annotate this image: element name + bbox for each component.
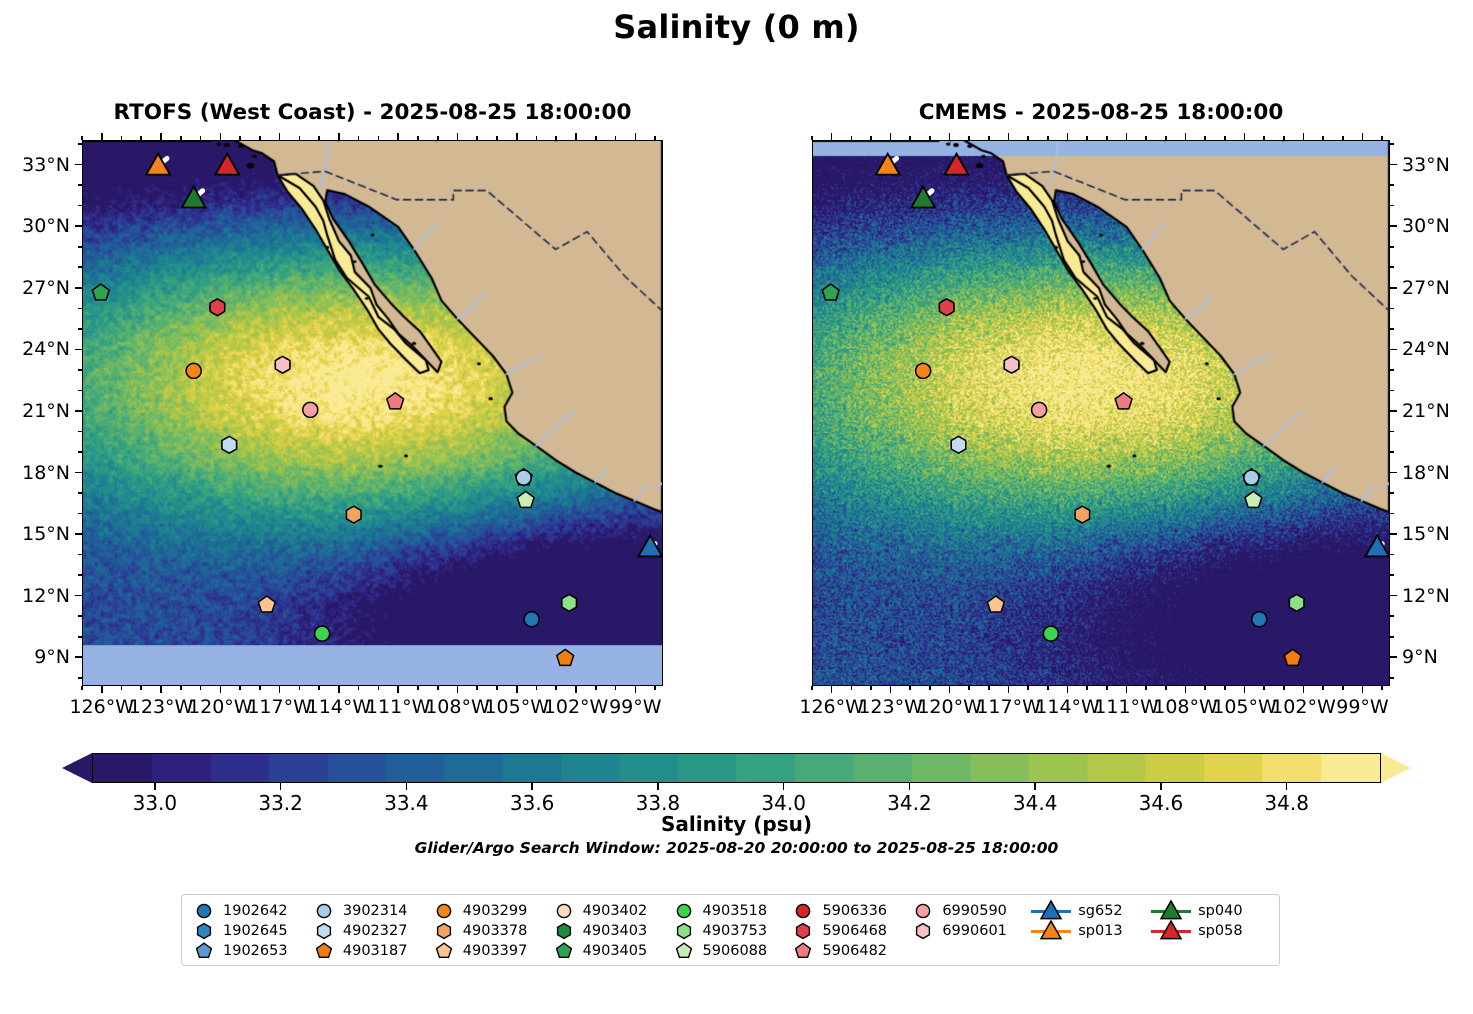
ytick-cmems-0: [1390, 164, 1397, 166]
ytick-minor-rtofs-11: [78, 615, 82, 617]
xtick-minor-cmems--112: [1106, 686, 1108, 690]
legend-item-sg652[interactable]: sg652: [1031, 901, 1151, 921]
legend-item-6990601[interactable]: 6990601: [911, 921, 1031, 941]
xtick-top-minor-cmems--125: [851, 136, 853, 140]
ytick-minor-cmems-17: [1390, 492, 1394, 494]
xtick-minor-cmems--122: [909, 686, 911, 690]
legend-track-swatch-sp058: [1151, 921, 1191, 941]
xtick-minor-rtofs--116: [299, 686, 301, 690]
xtick-label-rtofs-4: 114°W: [307, 696, 372, 718]
ytick-minor-cmems-10: [1390, 636, 1394, 638]
ytick-label-cmems-2: 27°N: [1402, 277, 1450, 299]
legend-marker-hexagon-icon-1902645: [192, 921, 216, 941]
legend-label-5906482: 5906482: [822, 944, 887, 959]
ytick-minor-cmems-32: [1390, 184, 1394, 186]
ytick-minor-rtofs-13: [78, 574, 82, 576]
xtick-top-cmems-2: [949, 133, 951, 140]
legend-marker-circle-icon-4903402: [552, 901, 576, 921]
legend-item-4903753[interactable]: 4903753: [672, 921, 792, 941]
legend-marker-circle-icon-4903299: [432, 901, 456, 921]
platform-legend[interactable]: 1902642190264519026533902314490232749031…: [181, 894, 1280, 966]
xtick-top-minor-rtofs--107: [476, 136, 478, 140]
legend-item-1902642[interactable]: 1902642: [192, 901, 312, 921]
legend-marker-hexagon-icon-4902327: [312, 921, 336, 941]
map-panel-cmems[interactable]: [812, 140, 1390, 686]
ytick-minor-rtofs-10: [78, 636, 82, 638]
ytick-minor-cmems-13: [1390, 574, 1394, 576]
xtick-top-rtofs-0: [101, 133, 103, 140]
xtick-label-cmems-1: 123°W: [858, 696, 923, 718]
legend-marker-hexagon-icon-4903753: [672, 921, 696, 941]
xtick-top-minor-cmems--100: [1342, 136, 1344, 140]
legend-triangle-icon-sg652: [1040, 901, 1062, 921]
platform-marker-1902642[interactable]: [524, 612, 539, 627]
xtick-label-rtofs-7: 105°W: [484, 696, 549, 718]
platform-marker-5906468[interactable]: [210, 299, 225, 316]
ytick-minor-cmems-11: [1390, 615, 1394, 617]
colorbar-tick-3: [531, 783, 532, 790]
ytick-minor-cmems-8: [1390, 677, 1394, 679]
ytick-rtofs-1: [75, 225, 82, 227]
xtick-top-minor-cmems--115: [1047, 136, 1049, 140]
platform-marker-4903378[interactable]: [1075, 506, 1090, 523]
ytick-rtofs-5: [75, 472, 82, 474]
xtick-minor-rtofs--109: [437, 686, 439, 690]
ytick-label-rtofs-5: 18°N: [0, 462, 70, 484]
legend-item-sp058[interactable]: sp058: [1151, 921, 1271, 941]
platform-marker-6990601[interactable]: [275, 356, 290, 373]
xtick-minor-rtofs--100: [615, 686, 617, 690]
xtick-top-cmems-4: [1067, 133, 1069, 140]
legend-label-5906336: 5906336: [822, 904, 887, 919]
xtick-top-minor-rtofs--122: [180, 136, 182, 140]
ytick-minor-rtofs-25: [78, 328, 82, 330]
ytick-minor-cmems-16: [1390, 513, 1394, 515]
xtick-minor-cmems--104: [1263, 686, 1265, 690]
legend-item-4903405[interactable]: 4903405: [552, 941, 672, 961]
xtick-rtofs-1: [160, 686, 162, 693]
legend-item-5906482[interactable]: 5906482: [791, 941, 911, 961]
ytick-minor-cmems-19: [1390, 451, 1394, 453]
xtick-minor-rtofs--122: [180, 686, 182, 690]
xtick-top-minor-rtofs--98: [654, 136, 656, 140]
xtick-minor-rtofs--115: [318, 686, 320, 690]
xtick-top-minor-rtofs--106: [496, 136, 498, 140]
ytick-minor-rtofs-14: [78, 554, 82, 556]
xtick-minor-rtofs--107: [476, 686, 478, 690]
xtick-minor-rtofs--104: [536, 686, 538, 690]
platform-marker-4902327[interactable]: [222, 436, 237, 453]
legend-triangle-icon-sp058: [1160, 921, 1182, 941]
ytick-label-rtofs-2: 27°N: [0, 277, 70, 299]
ytick-minor-rtofs-16: [78, 513, 82, 515]
legend-label-4903299: 4903299: [463, 904, 528, 919]
platform-marker-sg652[interactable]: [1365, 536, 1389, 557]
xtick-top-minor-cmems--113: [1086, 136, 1088, 140]
marker-overlay-cmems: [813, 141, 1390, 686]
xtick-minor-rtofs--127: [81, 686, 83, 690]
colorbar-axis-label: Salinity (psu): [0, 812, 1473, 836]
legend-item-4903518[interactable]: 4903518: [672, 901, 792, 921]
legend-marker-hexagon-icon-6990601: [911, 921, 935, 941]
xtick-top-rtofs-7: [516, 133, 518, 140]
xtick-label-cmems-5: 111°W: [1094, 696, 1159, 718]
xtick-rtofs-6: [457, 686, 459, 693]
platform-marker-3902314[interactable]: [516, 470, 531, 485]
xtick-minor-cmems--116: [1027, 686, 1029, 690]
xtick-label-cmems-3: 117°W: [976, 696, 1041, 718]
colorbar-gradient: [92, 753, 1381, 783]
legend-item-sp040[interactable]: sp040: [1151, 901, 1271, 921]
ytick-minor-cmems-22: [1390, 390, 1394, 392]
legend-label-sp013: sp013: [1078, 924, 1122, 939]
ytick-cmems-4: [1390, 410, 1397, 412]
xtick-minor-cmems--101: [1322, 686, 1324, 690]
ytick-minor-rtofs-34: [78, 143, 82, 145]
legend-item-5906088[interactable]: 5906088: [672, 941, 792, 961]
legend-item-4903378[interactable]: 4903378: [432, 921, 552, 941]
xtick-cmems-8: [1303, 686, 1305, 693]
xtick-top-minor-rtofs--103: [555, 136, 557, 140]
figure-suptitle: Salinity (0 m): [0, 8, 1473, 46]
xtick-minor-cmems--107: [1204, 686, 1206, 690]
legend-marker-pentagon-icon-5906482: [791, 941, 815, 961]
platform-marker-4903397[interactable]: [258, 596, 275, 612]
ytick-label-cmems-1: 30°N: [1402, 215, 1450, 237]
xtick-rtofs-3: [279, 686, 281, 693]
xtick-top-cmems-8: [1303, 133, 1305, 140]
ytick-label-rtofs-0: 33°N: [0, 154, 70, 176]
legend-label-sp040: sp040: [1198, 904, 1242, 919]
xtick-top-minor-cmems--103: [1283, 136, 1285, 140]
ytick-minor-cmems-29: [1390, 246, 1394, 248]
platform-marker-4903753[interactable]: [562, 594, 577, 611]
ytick-cmems-8: [1390, 656, 1397, 658]
legend-label-4903405: 4903405: [583, 944, 648, 959]
ytick-label-cmems-6: 15°N: [1402, 523, 1450, 545]
colorbar-tick-9: [1286, 783, 1287, 790]
platform-marker-4903378[interactable]: [346, 506, 361, 523]
xtick-top-minor-cmems--118: [988, 136, 990, 140]
ytick-label-rtofs-3: 24°N: [0, 338, 70, 360]
legend-item-4903397[interactable]: 4903397: [432, 941, 552, 961]
colorbar-tick-2: [406, 783, 407, 790]
xtick-label-rtofs-8: 102°W: [544, 696, 609, 718]
ytick-minor-rtofs-32: [78, 184, 82, 186]
xtick-minor-rtofs--118: [259, 686, 261, 690]
ytick-minor-cmems-31: [1390, 205, 1394, 207]
platform-marker-4903397[interactable]: [987, 596, 1004, 612]
xtick-top-cmems-6: [1185, 133, 1187, 140]
xtick-minor-cmems--100: [1342, 686, 1344, 690]
xtick-minor-rtofs--106: [496, 686, 498, 690]
ytick-label-rtofs-6: 15°N: [0, 523, 70, 545]
xtick-label-rtofs-0: 126°W: [69, 696, 134, 718]
legend-label-4903518: 4903518: [703, 904, 768, 919]
xtick-top-cmems-1: [890, 133, 892, 140]
xtick-minor-rtofs--121: [200, 686, 202, 690]
xtick-top-minor-rtofs--104: [536, 136, 538, 140]
platform-marker-sp058[interactable]: [945, 154, 969, 175]
xtick-top-minor-rtofs--124: [140, 136, 142, 140]
xtick-minor-rtofs--103: [555, 686, 557, 690]
legend-item-5906468[interactable]: 5906468: [791, 921, 911, 941]
legend-item-4903403[interactable]: 4903403: [552, 921, 672, 941]
ytick-minor-rtofs-31: [78, 205, 82, 207]
colorbar-extend-low: [62, 753, 92, 783]
xtick-top-minor-rtofs--127: [81, 136, 83, 140]
xtick-top-cmems-5: [1126, 133, 1128, 140]
xtick-cmems-7: [1244, 686, 1246, 693]
panel-title-cmems: CMEMS - 2025-08-25 18:00:00: [812, 100, 1390, 125]
legend-track-swatch-sp040: [1151, 901, 1191, 921]
legend-triangle-icon-sp040: [1160, 901, 1182, 921]
platform-marker-sg652[interactable]: [638, 536, 662, 557]
ytick-label-cmems-7: 12°N: [1402, 585, 1450, 607]
xtick-top-cmems-0: [831, 133, 833, 140]
platform-marker-sp058[interactable]: [215, 154, 239, 175]
ytick-label-cmems-5: 18°N: [1402, 462, 1450, 484]
legend-marker-hexagon-icon-4903378: [432, 921, 456, 941]
xtick-minor-cmems--127: [811, 686, 813, 690]
legend-track-swatch-sp013: [1031, 921, 1071, 941]
ytick-minor-cmems-20: [1390, 431, 1394, 433]
ytick-label-cmems-8: 9°N: [1402, 646, 1438, 668]
map-panel-rtofs[interactable]: [82, 140, 663, 686]
xtick-label-cmems-0: 126°W: [799, 696, 864, 718]
ytick-label-rtofs-1: 30°N: [0, 215, 70, 237]
xtick-minor-cmems--113: [1086, 686, 1088, 690]
legend-item-5906336[interactable]: 5906336: [791, 901, 911, 921]
xtick-top-minor-cmems--101: [1322, 136, 1324, 140]
legend-label-4902327: 4902327: [343, 924, 408, 939]
ytick-cmems-3: [1390, 349, 1397, 351]
xtick-rtofs-5: [397, 686, 399, 693]
colorbar-tick-4: [657, 783, 658, 790]
legend-item-4903187[interactable]: 4903187: [312, 941, 432, 961]
platform-marker-4903187[interactable]: [557, 649, 574, 665]
platform-marker-5906088[interactable]: [1245, 491, 1262, 507]
xtick-rtofs-0: [101, 686, 103, 693]
ytick-minor-rtofs-8: [78, 677, 82, 679]
ytick-cmems-7: [1390, 595, 1397, 597]
legend-item-4902327[interactable]: 4902327: [312, 921, 432, 941]
legend-marker-pentagon-icon-4903397: [432, 941, 456, 961]
xtick-top-cmems-9: [1362, 133, 1364, 140]
platform-marker-4903405[interactable]: [822, 284, 839, 300]
xtick-cmems-9: [1362, 686, 1364, 693]
platform-marker-4903187[interactable]: [1284, 649, 1301, 665]
xtick-minor-cmems--118: [988, 686, 990, 690]
platform-marker-4902327[interactable]: [951, 436, 966, 453]
legend-marker-hexagon-icon-5906468: [791, 921, 815, 941]
xtick-label-rtofs-9: 99°W: [609, 696, 661, 718]
xtick-label-cmems-9: 99°W: [1336, 696, 1388, 718]
ytick-label-rtofs-7: 12°N: [0, 585, 70, 607]
xtick-label-rtofs-1: 123°W: [129, 696, 194, 718]
ytick-cmems-6: [1390, 533, 1397, 535]
xtick-minor-cmems--103: [1283, 686, 1285, 690]
xtick-rtofs-8: [575, 686, 577, 693]
ytick-minor-cmems-26: [1390, 308, 1394, 310]
xtick-top-minor-rtofs--125: [121, 136, 123, 140]
platform-marker-6990590[interactable]: [303, 402, 318, 417]
xtick-top-minor-cmems--124: [870, 136, 872, 140]
legend-marker-circle-icon-1902642: [192, 901, 216, 921]
ytick-cmems-1: [1390, 225, 1397, 227]
ytick-minor-rtofs-23: [78, 369, 82, 371]
xtick-minor-cmems--121: [929, 686, 931, 690]
ytick-rtofs-8: [75, 656, 82, 658]
platform-marker-4903299[interactable]: [186, 363, 201, 378]
xtick-top-rtofs-5: [397, 133, 399, 140]
xtick-cmems-6: [1185, 686, 1187, 693]
xtick-top-rtofs-3: [279, 133, 281, 140]
legend-label-5906468: 5906468: [822, 924, 887, 939]
legend-marker-pentagon-icon-5906088: [672, 941, 696, 961]
legend-item-6990590[interactable]: 6990590: [911, 901, 1031, 921]
legend-item-3902314[interactable]: 3902314: [312, 901, 432, 921]
legend-label-4903397: 4903397: [463, 944, 528, 959]
platform-marker-4903518[interactable]: [1043, 626, 1058, 641]
xtick-minor-rtofs--113: [358, 686, 360, 690]
legend-marker-pentagon-icon-4903187: [312, 941, 336, 961]
xtick-top-minor-rtofs--100: [615, 136, 617, 140]
xtick-label-cmems-4: 114°W: [1035, 696, 1100, 718]
xtick-label-cmems-2: 120°W: [917, 696, 982, 718]
xtick-minor-cmems--125: [851, 686, 853, 690]
xtick-minor-cmems--124: [870, 686, 872, 690]
legend-item-1902653[interactable]: 1902653: [192, 941, 312, 961]
legend-marker-circle-icon-3902314: [312, 901, 336, 921]
xtick-top-minor-rtofs--101: [595, 136, 597, 140]
xtick-top-minor-cmems--98: [1381, 136, 1383, 140]
xtick-top-minor-cmems--112: [1106, 136, 1108, 140]
platform-marker-1902642[interactable]: [1252, 612, 1267, 627]
colorbar[interactable]: 33.033.233.433.633.834.034.234.434.634.8: [62, 753, 1411, 783]
xtick-top-minor-rtofs--115: [318, 136, 320, 140]
platform-marker-3902314[interactable]: [1244, 470, 1259, 485]
search-window-caption: Glider/Argo Search Window: 2025-08-20 20…: [0, 839, 1473, 857]
xtick-top-cmems-3: [1008, 133, 1010, 140]
xtick-minor-cmems--110: [1145, 686, 1147, 690]
xtick-top-minor-rtofs--116: [299, 136, 301, 140]
platform-marker-4903518[interactable]: [315, 626, 330, 641]
colorbar-tick-0: [154, 783, 155, 790]
ytick-minor-cmems-14: [1390, 554, 1394, 556]
xtick-top-minor-rtofs--118: [259, 136, 261, 140]
xtick-top-minor-rtofs--112: [378, 136, 380, 140]
legend-item-1902645[interactable]: 1902645: [192, 921, 312, 941]
legend-item-4903299[interactable]: 4903299: [432, 901, 552, 921]
ytick-minor-cmems-28: [1390, 266, 1394, 268]
legend-grid: 1902642190264519026533902314490232749031…: [192, 901, 1271, 959]
xtick-top-rtofs-1: [160, 133, 162, 140]
colorbar-extend-high: [1381, 753, 1411, 783]
ytick-rtofs-3: [75, 349, 82, 351]
xtick-minor-cmems--106: [1224, 686, 1226, 690]
xtick-cmems-3: [1008, 686, 1010, 693]
xtick-cmems-4: [1067, 686, 1069, 693]
ytick-rtofs-2: [75, 287, 82, 289]
platform-marker-5906468[interactable]: [939, 299, 954, 316]
ytick-minor-rtofs-20: [78, 431, 82, 433]
legend-label-sg652: sg652: [1078, 904, 1122, 919]
xtick-top-minor-rtofs--119: [239, 136, 241, 140]
platform-marker-4903753[interactable]: [1289, 594, 1304, 611]
legend-triangle-icon-sp013: [1040, 921, 1062, 941]
xtick-minor-rtofs--124: [140, 686, 142, 690]
platform-marker-5906482[interactable]: [387, 393, 404, 409]
ytick-rtofs-4: [75, 410, 82, 412]
ytick-label-rtofs-4: 21°N: [0, 400, 70, 422]
colorbar-tick-5: [783, 783, 784, 790]
platform-marker-4903299[interactable]: [916, 363, 931, 378]
platform-marker-4903405[interactable]: [92, 284, 109, 300]
xtick-top-minor-rtofs--113: [358, 136, 360, 140]
xtick-top-minor-rtofs--121: [200, 136, 202, 140]
legend-track-swatch-sg652: [1031, 901, 1071, 921]
ytick-minor-cmems-25: [1390, 328, 1394, 330]
xtick-label-rtofs-2: 120°W: [188, 696, 253, 718]
ytick-rtofs-7: [75, 595, 82, 597]
ytick-label-cmems-4: 21°N: [1402, 400, 1450, 422]
xtick-top-minor-rtofs--109: [437, 136, 439, 140]
ytick-minor-rtofs-19: [78, 451, 82, 453]
legend-label-6990601: 6990601: [942, 924, 1007, 939]
ytick-cmems-2: [1390, 287, 1397, 289]
xtick-minor-cmems--109: [1165, 686, 1167, 690]
ytick-label-rtofs-8: 9°N: [0, 646, 70, 668]
colorbar-tick-8: [1160, 783, 1161, 790]
platform-marker-5906482[interactable]: [1115, 393, 1132, 409]
legend-marker-hexagon-icon-4903403: [552, 921, 576, 941]
platform-marker-6990590[interactable]: [1032, 402, 1047, 417]
ytick-rtofs-0: [75, 164, 82, 166]
xtick-cmems-2: [949, 686, 951, 693]
platform-marker-5906088[interactable]: [517, 491, 534, 507]
ytick-minor-rtofs-22: [78, 390, 82, 392]
legend-label-4903187: 4903187: [343, 944, 408, 959]
legend-item-sp013[interactable]: sp013: [1031, 921, 1151, 941]
xtick-minor-cmems--115: [1047, 686, 1049, 690]
xtick-top-minor-cmems--122: [909, 136, 911, 140]
ytick-minor-rtofs-17: [78, 492, 82, 494]
xtick-top-rtofs-6: [457, 133, 459, 140]
legend-marker-circle-icon-6990590: [911, 901, 935, 921]
xtick-label-rtofs-6: 108°W: [425, 696, 490, 718]
legend-item-4903402[interactable]: 4903402: [552, 901, 672, 921]
xtick-top-minor-cmems--116: [1027, 136, 1029, 140]
xtick-top-rtofs-8: [575, 133, 577, 140]
xtick-label-rtofs-5: 111°W: [366, 696, 431, 718]
platform-marker-6990601[interactable]: [1004, 356, 1019, 373]
xtick-top-minor-cmems--104: [1263, 136, 1265, 140]
xtick-cmems-1: [890, 686, 892, 693]
xtick-minor-rtofs--101: [595, 686, 597, 690]
xtick-minor-cmems--119: [968, 686, 970, 690]
xtick-top-rtofs-9: [635, 133, 637, 140]
colorbar-tick-1: [280, 783, 281, 790]
ytick-minor-cmems-23: [1390, 369, 1394, 371]
xtick-top-minor-cmems--107: [1204, 136, 1206, 140]
xtick-top-minor-cmems--121: [929, 136, 931, 140]
ytick-minor-rtofs-26: [78, 308, 82, 310]
xtick-rtofs-9: [635, 686, 637, 693]
legend-label-5906088: 5906088: [703, 944, 768, 959]
xtick-top-rtofs-2: [220, 133, 222, 140]
xtick-rtofs-2: [220, 686, 222, 693]
